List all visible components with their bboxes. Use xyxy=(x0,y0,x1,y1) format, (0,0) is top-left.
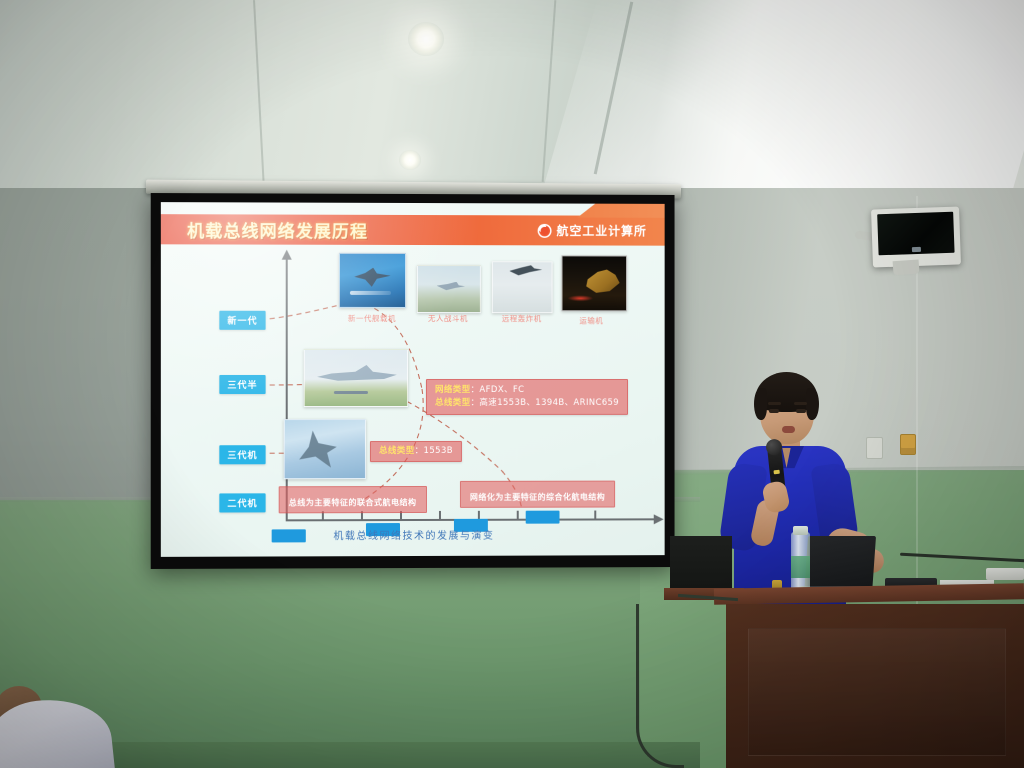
bus-type-tag: 总线类型：1553B xyxy=(370,441,462,462)
brand-name: 航空工业计算所 xyxy=(557,222,647,239)
monitor-badge-icon xyxy=(912,247,921,252)
gen-label-3-5: 三代半 xyxy=(219,375,265,394)
arch-bar-federated: 总线为主要特征的联合式航电结构 xyxy=(279,486,427,513)
y-axis xyxy=(286,259,288,522)
bus-type-row: 总线类型：1553B xyxy=(379,445,453,458)
photo-gen-3-5-fighter xyxy=(304,349,408,407)
wall-monitor xyxy=(871,206,961,267)
projection-screen: 机载总线网络发展历程 航空工业计算所 xyxy=(151,193,675,569)
x-tick xyxy=(439,511,440,520)
ceiling xyxy=(0,0,1024,190)
podium-panel xyxy=(748,628,1006,756)
gen-label-new: 新一代 xyxy=(219,311,265,330)
photo-long-range-bomber xyxy=(492,261,553,313)
downlight-icon xyxy=(408,22,444,56)
desk-paper xyxy=(986,568,1024,580)
arch-bar-integrated: 网络化为主要特征的综合化航电结构 xyxy=(460,481,615,508)
info-key: 总线类型 xyxy=(435,398,471,408)
presenter-brow xyxy=(768,402,781,405)
photo-caption: 新一代舰载机 xyxy=(348,313,396,324)
floor-cable xyxy=(636,604,684,768)
presenter-hair-side xyxy=(754,388,767,420)
ceiling-seam xyxy=(253,0,265,190)
year-chip xyxy=(526,511,560,524)
presenter-brow xyxy=(794,402,807,405)
photo-new-gen-carrier-jet xyxy=(339,253,406,308)
presenter-eye xyxy=(769,409,779,413)
company-logo-icon xyxy=(538,223,552,237)
info-key: 网络类型 xyxy=(435,385,471,395)
header-notch xyxy=(556,204,665,218)
monitor-base xyxy=(893,259,920,275)
arch-bar-text: 网络化为主要特征的综合化航电结构 xyxy=(470,493,605,502)
downlight-icon xyxy=(399,150,421,170)
info-row-network: 网络类型：AFDX、FC xyxy=(435,384,619,397)
bus-type-value: 1553B xyxy=(424,446,453,456)
water-bottle-label xyxy=(791,556,810,578)
bus-type-key: 总线类型 xyxy=(379,446,415,456)
photo-unmanned-combat-jet xyxy=(417,265,481,313)
microphone-led xyxy=(773,470,779,475)
info-value: 高速1553B、1394B、ARINC659 xyxy=(479,398,619,408)
photo-gen-3-fighter xyxy=(284,419,366,479)
water-bottle-cap xyxy=(793,526,808,535)
presenter-hair-side xyxy=(806,388,819,420)
presenter-eye xyxy=(796,409,806,413)
photo-transport-aircraft xyxy=(562,255,628,311)
conference-room-scene: 机载总线网络发展历程 航空工业计算所 xyxy=(0,0,1024,768)
wall-outlet-amber xyxy=(900,434,916,455)
info-row-bus: 总线类型：高速1553B、1394B、ARINC659 xyxy=(435,397,619,410)
microphone-head xyxy=(765,438,783,456)
gen-label-2: 二代机 xyxy=(219,493,265,512)
photo-caption: 无人战斗机 xyxy=(428,313,468,324)
slide: 机载总线网络发展历程 航空工业计算所 xyxy=(161,202,665,557)
slide-title: 机载总线网络发展历程 xyxy=(187,217,368,243)
arch-bar-text: 总线为主要特征的联合式航电结构 xyxy=(289,498,417,507)
slide-footer-caption: 机载总线网络技术的发展与演变 xyxy=(161,526,665,543)
x-tick xyxy=(517,511,518,520)
gen-label-3: 三代机 xyxy=(219,445,265,464)
photo-caption: 远程轰炸机 xyxy=(502,313,542,324)
x-tick xyxy=(594,511,595,520)
photo-caption: 运输机 xyxy=(579,315,603,326)
presenter-mouth xyxy=(782,426,795,433)
wall-outlet xyxy=(866,437,883,459)
info-value: AFDX、FC xyxy=(479,385,524,395)
network-bus-info-box: 网络类型：AFDX、FC 总线类型：高速1553B、1394B、ARINC659 xyxy=(426,379,628,414)
brand-lockup: 航空工业计算所 xyxy=(538,222,647,239)
slide-header: 机载总线网络发展历程 航空工业计算所 xyxy=(161,214,665,246)
